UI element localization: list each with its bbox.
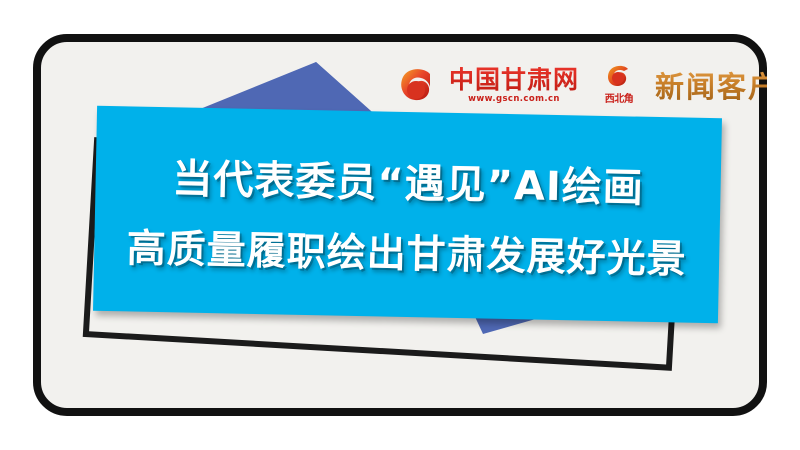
banner-text-block: 当代表委员“遇见”AI绘画 高质量履职绘出甘肃发展好光景 — [93, 106, 722, 324]
gscn-swirl-logo-icon — [395, 63, 439, 107]
xibeijiao-name: 西北角 — [605, 90, 634, 105]
poster-root: 当代表委员“遇见”AI绘画 高质量履职绘出甘肃发展好光景 — [0, 0, 800, 450]
headline-line-1: 当代表委员“遇见”AI绘画 — [172, 146, 644, 213]
masthead: 中国甘肃网 www.gscn.com.cn — [395, 56, 745, 114]
headline-line-2: 高质量履职绘出甘肃发展好光景 — [126, 217, 687, 284]
xibeijiao-swirl-logo-icon — [605, 63, 633, 89]
gscn-url: www.gscn.com.cn — [468, 95, 560, 104]
xibeijiao-logo: 西北角 — [601, 63, 637, 107]
gscn-name: 中国甘肃网 — [449, 67, 579, 92]
app-name: 新闻客户端 — [655, 64, 767, 106]
frame-content: 当代表委员“遇见”AI绘画 高质量履职绘出甘肃发展好光景 — [33, 34, 767, 416]
gscn-wordmark: 中国甘肃网 www.gscn.com.cn — [449, 67, 579, 104]
